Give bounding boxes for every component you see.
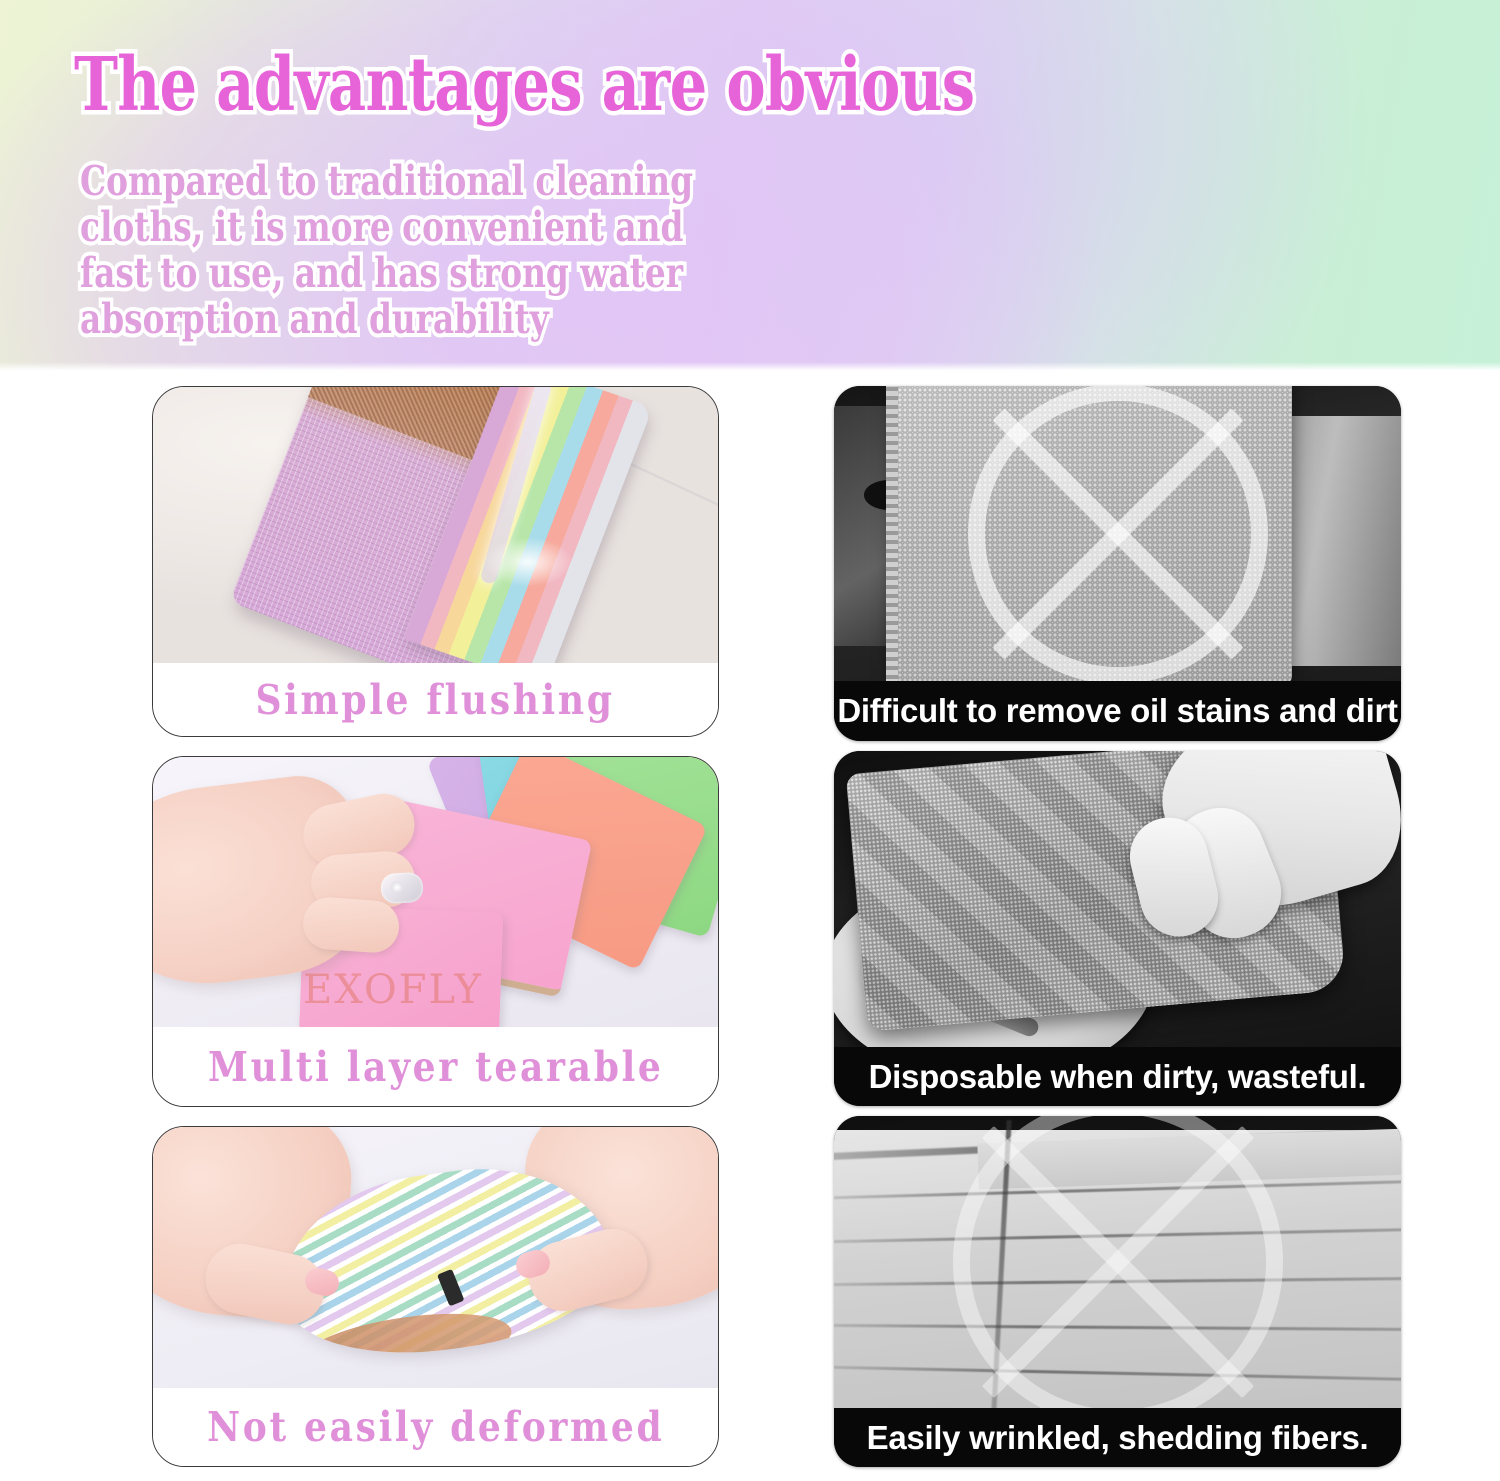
header-banner: The advantages are obvious Compared to t… (0, 0, 1500, 372)
con-card-wrinkled-shedding: Easily wrinkled, shedding fibers. (834, 1116, 1401, 1467)
page-title: The advantages are obvious (74, 42, 974, 128)
page-subtitle: Compared to traditional cleaning cloths,… (80, 158, 736, 342)
wrinkle-line (834, 1227, 1401, 1243)
brand-watermark: EXOFLY (303, 967, 483, 1013)
photo-sponge-rinsing (153, 387, 718, 665)
cloth-notch (437, 1269, 465, 1307)
con-caption-3-text: Easily wrinkled, shedding fibers. (867, 1419, 1369, 1457)
pro-caption-1: Simple flushing (153, 663, 718, 736)
photo-hands-stretching-cloth (153, 1127, 718, 1390)
cloth-folded-flap (977, 1129, 1401, 1190)
pro-caption-3-text: Not easily deformed (207, 1403, 664, 1451)
photo-wrinkled-cloth (834, 1116, 1401, 1408)
product-comparison-infographic: The advantages are obvious Compared to t… (0, 0, 1500, 1481)
terry-towel (892, 386, 1292, 681)
finger-ring (301, 896, 400, 955)
comparison-grid: Simple flushing EX (0, 372, 1500, 1481)
pro-caption-2: Multi layer tearable (153, 1027, 718, 1106)
pro-card-simple-flushing: Simple flushing (152, 386, 719, 737)
con-card-oil-stains: Difficult to remove oil stains and dirt (834, 386, 1401, 741)
wrinkle-line (834, 1324, 1401, 1331)
con-caption-2-text: Disposable when dirty, wasteful. (869, 1058, 1367, 1096)
con-caption-1: Difficult to remove oil stains and dirt (834, 681, 1401, 741)
pro-card-multi-layer-tearable: EXOFLY Multi layer tearable (152, 756, 719, 1107)
photo-hand-fanning-layers: EXOFLY (153, 757, 718, 1029)
con-caption-1-text: Difficult to remove oil stains and dirt (837, 692, 1397, 730)
con-caption-3: Easily wrinkled, shedding fibers. (834, 1408, 1401, 1467)
wrinkle-line (834, 1277, 1401, 1287)
con-caption-2: Disposable when dirty, wasteful. (834, 1047, 1401, 1106)
photo-terry-cloth-sink (834, 386, 1401, 681)
decorated-fingernail (380, 872, 424, 904)
wrinkled-cloth (834, 1130, 1401, 1408)
con-card-disposable-wasteful: Disposable when dirty, wasteful. (834, 751, 1401, 1106)
wrinkle-line (834, 1365, 1401, 1381)
cloth-underside (299, 1303, 515, 1371)
pro-caption-2-text: Multi layer tearable (208, 1043, 663, 1091)
water-splash (483, 537, 573, 587)
photo-gloved-hand-plate (834, 751, 1401, 1047)
pro-caption-1-text: Simple flushing (256, 676, 615, 724)
pro-card-not-easily-deformed: Not easily deformed (152, 1126, 719, 1467)
pro-caption-3: Not easily deformed (153, 1388, 718, 1466)
